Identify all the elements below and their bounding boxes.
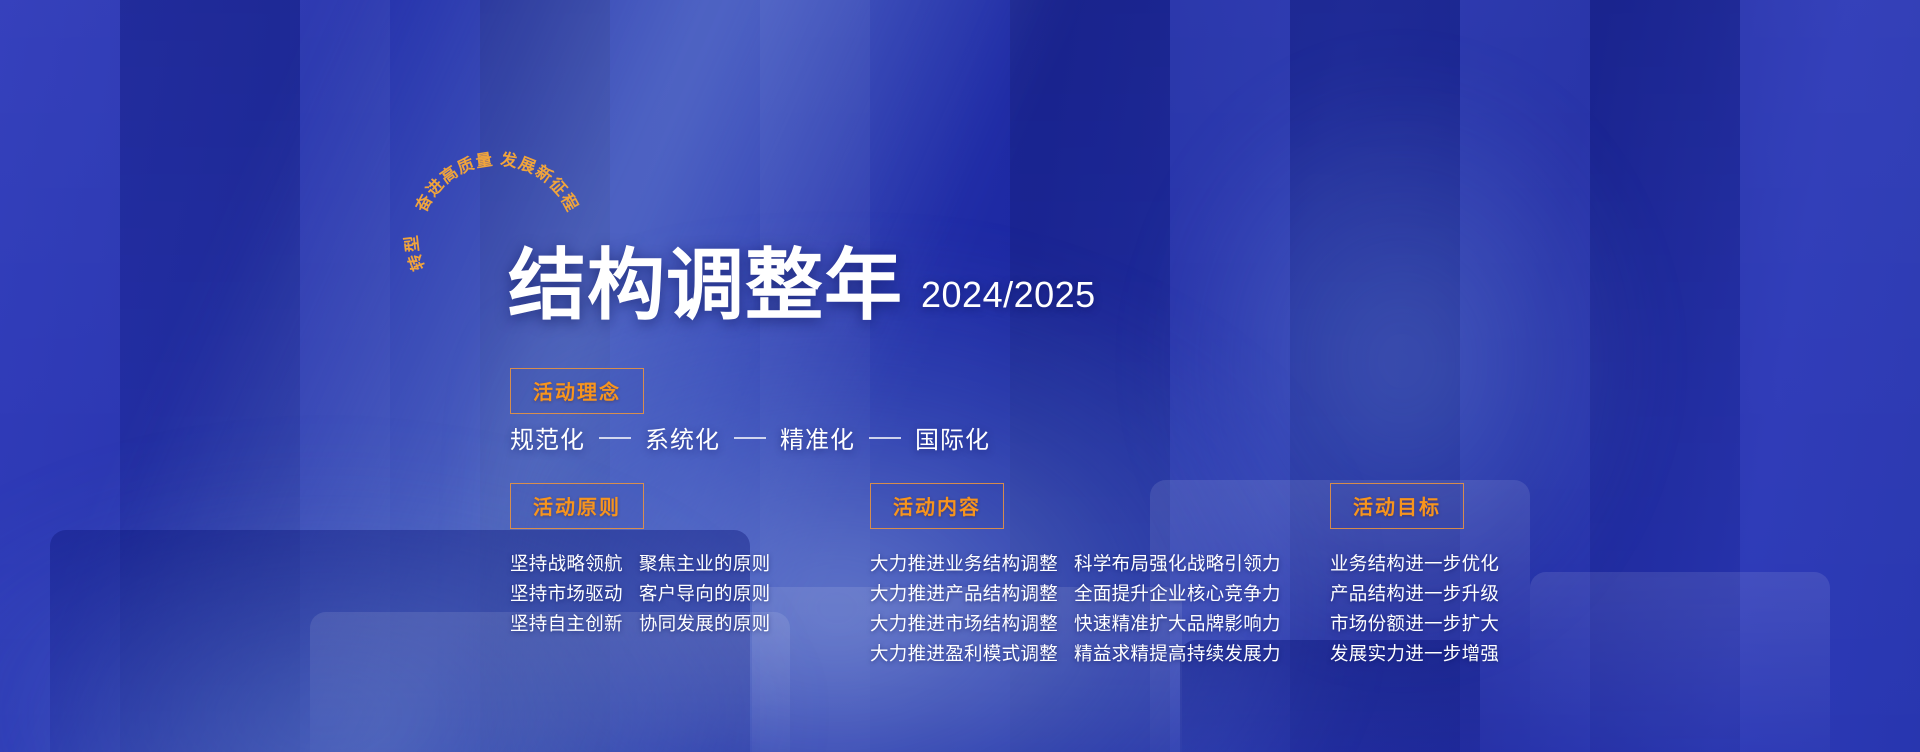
row-left: 市场份额进一步扩大 bbox=[1330, 610, 1499, 638]
badge-contents-label: 活动内容 bbox=[893, 491, 981, 520]
row-left: 大力推进市场结构调整 bbox=[870, 610, 1058, 638]
badge-goals-label: 活动目标 bbox=[1353, 491, 1441, 520]
column-contents: 活动内容 大力推进业务结构调整 科学布局强化战略引领力 大力推进产品结构调整 全… bbox=[870, 483, 1281, 669]
row-right: 全面提升企业核心竞争力 bbox=[1074, 580, 1281, 608]
row-right: 快速精准扩大品牌影响力 bbox=[1074, 610, 1281, 638]
row-right: 科学布局强化战略引领力 bbox=[1074, 550, 1281, 578]
concept-item-1: 系统化 bbox=[645, 420, 720, 455]
list-item: 产品结构进一步升级 bbox=[1330, 579, 1499, 609]
concept-dash-2 bbox=[869, 437, 901, 439]
row-right: 协同发展的原则 bbox=[639, 610, 771, 638]
list-item: 大力推进盈利模式调整 精益求精提高持续发展力 bbox=[870, 639, 1281, 669]
row-left: 坚持战略领航 bbox=[510, 550, 623, 578]
row-left: 发展实力进一步增强 bbox=[1330, 640, 1499, 668]
row-left: 坚持自主创新 bbox=[510, 610, 623, 638]
row-left: 坚持市场驱动 bbox=[510, 580, 623, 608]
row-left: 业务结构进一步优化 bbox=[1330, 550, 1499, 578]
column-principles: 活动原则 坚持战略领航 聚焦主业的原则 坚持市场驱动 客户导向的原则 坚持自主创… bbox=[510, 483, 770, 639]
concept-list: 规范化 系统化 精准化 国际化 bbox=[510, 420, 990, 455]
badge-principles[interactable]: 活动原则 bbox=[510, 483, 644, 529]
concept-dash-1 bbox=[734, 437, 766, 439]
badge-concept-label: 活动理念 bbox=[533, 376, 621, 405]
row-right: 聚焦主业的原则 bbox=[639, 550, 771, 578]
row-left: 大力推进产品结构调整 bbox=[870, 580, 1058, 608]
row-left: 大力推进盈利模式调整 bbox=[870, 640, 1058, 668]
principles-list: 坚持战略领航 聚焦主业的原则 坚持市场驱动 客户导向的原则 坚持自主创新 协同发… bbox=[510, 549, 770, 639]
badge-contents[interactable]: 活动内容 bbox=[870, 483, 1004, 529]
headline-year: 2024/2025 bbox=[921, 274, 1096, 324]
concept-item-3: 国际化 bbox=[915, 420, 990, 455]
concept-item-2: 精准化 bbox=[780, 420, 855, 455]
seal-outer-text: 奋进高质量 发展新征程 bbox=[411, 149, 583, 216]
badge-goals[interactable]: 活动目标 bbox=[1330, 483, 1464, 529]
banner-root: 奋进高质量 发展新征程 调结构 转型 增动能 结构调整年 2024/2025 活… bbox=[0, 0, 1920, 752]
row-right: 客户导向的原则 bbox=[639, 580, 771, 608]
concept-item-0: 规范化 bbox=[510, 420, 585, 455]
list-item: 坚持市场驱动 客户导向的原则 bbox=[510, 579, 770, 609]
list-item: 大力推进业务结构调整 科学布局强化战略引领力 bbox=[870, 549, 1281, 579]
column-goals: 活动目标 业务结构进一步优化 产品结构进一步升级 市场份额进一步扩大 发展实力进… bbox=[1330, 483, 1499, 669]
list-item: 发展实力进一步增强 bbox=[1330, 639, 1499, 669]
row-left: 大力推进业务结构调整 bbox=[870, 550, 1058, 578]
row-left: 产品结构进一步升级 bbox=[1330, 580, 1499, 608]
list-item: 坚持战略领航 聚焦主业的原则 bbox=[510, 549, 770, 579]
page-title: 结构调整年 bbox=[508, 248, 903, 324]
row-right: 精益求精提高持续发展力 bbox=[1074, 640, 1281, 668]
concept-dash-0 bbox=[599, 437, 631, 439]
list-item: 业务结构进一步优化 bbox=[1330, 549, 1499, 579]
badge-principles-label: 活动原则 bbox=[533, 491, 621, 520]
list-item: 坚持自主创新 协同发展的原则 bbox=[510, 609, 770, 639]
list-item: 大力推进产品结构调整 全面提升企业核心竞争力 bbox=[870, 579, 1281, 609]
list-item: 大力推进市场结构调整 快速精准扩大品牌影响力 bbox=[870, 609, 1281, 639]
list-item: 市场份额进一步扩大 bbox=[1330, 609, 1499, 639]
headline-row: 结构调整年 2024/2025 bbox=[508, 248, 1096, 324]
badge-concept[interactable]: 活动理念 bbox=[510, 368, 644, 414]
contents-list: 大力推进业务结构调整 科学布局强化战略引领力 大力推进产品结构调整 全面提升企业… bbox=[870, 549, 1281, 669]
goals-list: 业务结构进一步优化 产品结构进一步升级 市场份额进一步扩大 发展实力进一步增强 bbox=[1330, 549, 1499, 669]
